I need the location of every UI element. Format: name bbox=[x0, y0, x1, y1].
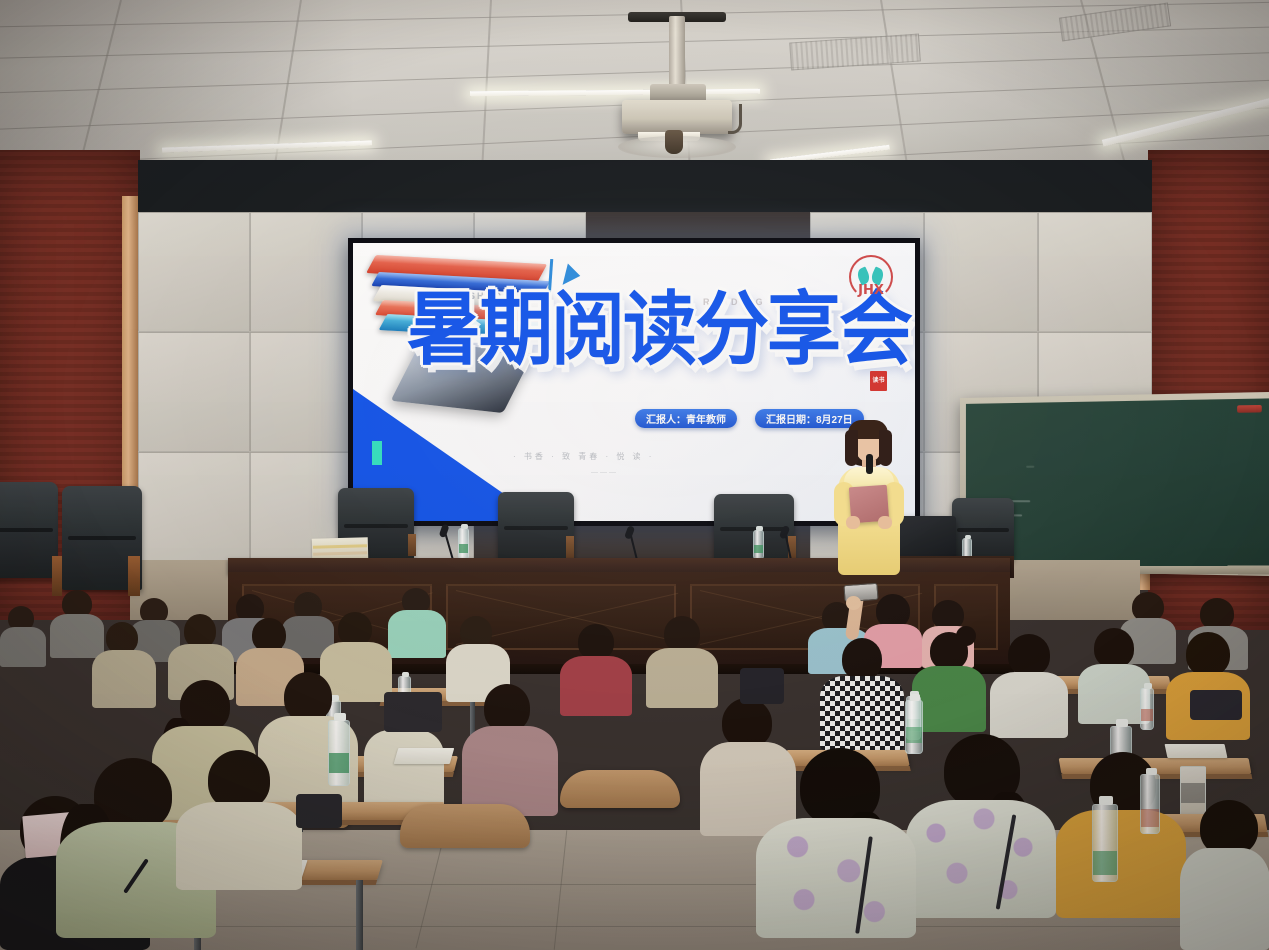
water-bottle[interactable] bbox=[1092, 804, 1118, 882]
audience-person bbox=[1166, 632, 1250, 740]
audience-person bbox=[462, 684, 558, 816]
audience-chair[interactable] bbox=[560, 770, 680, 808]
audience-person bbox=[560, 624, 632, 716]
projector-cable bbox=[728, 104, 742, 134]
audience-chair[interactable] bbox=[400, 804, 530, 848]
presenter-hair-right bbox=[879, 430, 892, 466]
water-bottle[interactable] bbox=[458, 528, 469, 560]
presenter-microphone bbox=[866, 454, 873, 474]
audience-person bbox=[1180, 800, 1269, 950]
audience-person bbox=[990, 634, 1068, 738]
audience-person-checkered bbox=[820, 638, 904, 750]
ceiling bbox=[0, 0, 1269, 186]
presenter-hand-right bbox=[878, 516, 892, 529]
handbag bbox=[384, 692, 442, 732]
slide-badge-presenter: 汇报人：青年教师 bbox=[635, 409, 737, 428]
handbag bbox=[296, 794, 342, 828]
stage-chair[interactable] bbox=[498, 492, 574, 562]
audience-person bbox=[176, 750, 302, 890]
presenter-hair-left bbox=[845, 430, 858, 466]
audience-person bbox=[0, 606, 46, 666]
audience-person bbox=[912, 632, 986, 732]
wall-seat[interactable] bbox=[0, 482, 58, 578]
audience-person-floral bbox=[756, 748, 916, 938]
handbag bbox=[1190, 690, 1242, 720]
presenter-person bbox=[824, 420, 912, 575]
slide-red-stamp: 读书 bbox=[870, 371, 887, 391]
water-bottle[interactable] bbox=[328, 720, 350, 786]
presenter-hand-left bbox=[846, 516, 860, 529]
ceiling-projector bbox=[622, 100, 732, 134]
blackboard-eraser[interactable] bbox=[1237, 405, 1262, 413]
handbag bbox=[740, 668, 784, 704]
logo-text: JHX bbox=[851, 283, 891, 298]
audience-person-floral bbox=[906, 734, 1056, 918]
audience-person bbox=[1056, 752, 1186, 918]
audience-area bbox=[0, 588, 1269, 950]
lecture-hall-photo: SHUQIJUEDU READING 暑期阅读分享会 汇报人：青年教师 汇报日期… bbox=[0, 0, 1269, 950]
slide-subtitle: · 书香 · 致 青春 · 悦 读 · bbox=[513, 451, 654, 462]
audience-person bbox=[386, 588, 446, 658]
audience-person bbox=[92, 622, 156, 708]
notebook[interactable] bbox=[394, 748, 455, 764]
school-logo: JHX bbox=[845, 255, 897, 307]
ceiling-fan-hub bbox=[665, 130, 683, 154]
water-bottle[interactable] bbox=[753, 530, 764, 560]
water-bottle[interactable] bbox=[1140, 774, 1160, 834]
slide-teal-accent bbox=[372, 441, 382, 465]
audience-person bbox=[646, 616, 718, 708]
slide-title: 暑期阅读分享会 bbox=[407, 292, 907, 368]
water-bottle[interactable] bbox=[1140, 688, 1154, 730]
slide-subtitle-secondary: ——— bbox=[591, 469, 618, 476]
